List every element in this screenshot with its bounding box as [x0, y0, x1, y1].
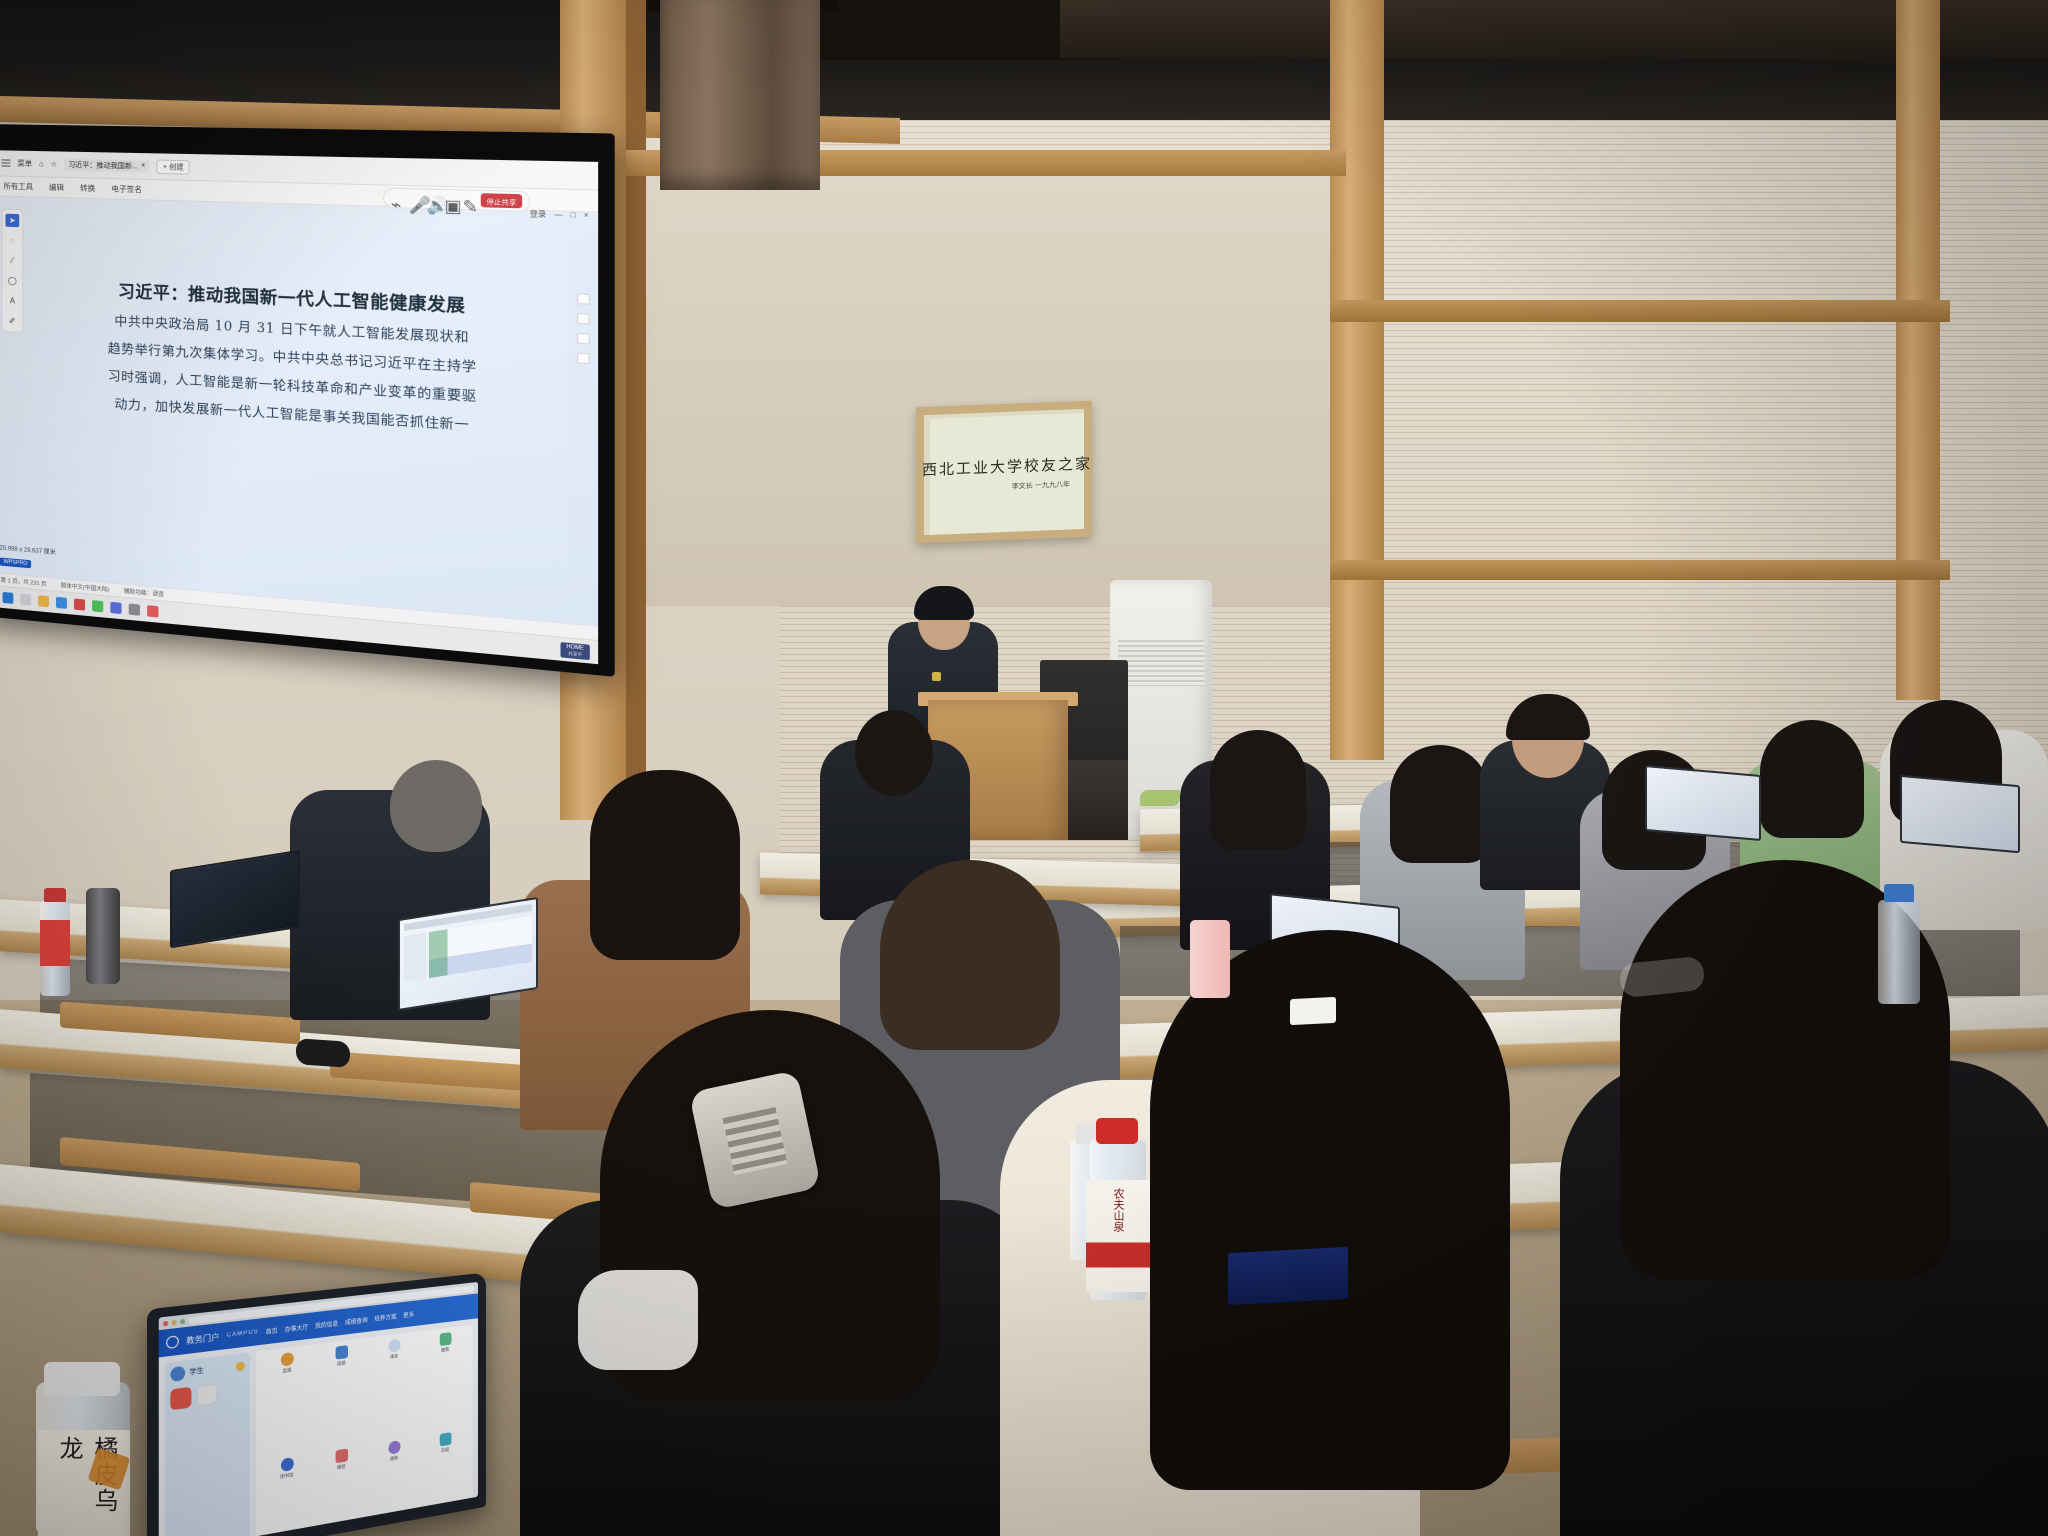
- document-page: 习近平：推动我国新一代人工智能健康发展 中共中央政治局 10 月 31 日下午就…: [29, 203, 567, 617]
- comment-icon[interactable]: ◌: [5, 234, 19, 248]
- face-mask: [578, 1270, 698, 1370]
- portal-tile[interactable]: 报修: [316, 1446, 366, 1536]
- panel-icon[interactable]: [577, 353, 590, 365]
- laptop[interactable]: [1645, 765, 1761, 841]
- portal-tile[interactable]: 课表: [370, 1336, 418, 1440]
- search-icon[interactable]: [20, 594, 31, 606]
- portal-nav-item[interactable]: 更多: [403, 1309, 414, 1319]
- bottle-cap: [44, 1362, 120, 1396]
- attendee-hair: [590, 770, 740, 960]
- portal-tile[interactable]: 图书馆: [261, 1454, 312, 1536]
- laptop-screen: [1645, 765, 1761, 841]
- new-document-button[interactable]: + 创建: [157, 159, 190, 174]
- close-window-icon[interactable]: ×: [584, 212, 589, 220]
- bottle-label: [40, 920, 70, 966]
- bottle-label: 农夫山泉: [1086, 1180, 1150, 1292]
- attendee-hair: [1210, 730, 1306, 850]
- start-icon[interactable]: [3, 592, 14, 604]
- highlighter-icon[interactable]: ⁄: [5, 254, 19, 268]
- portal-user-role: 学生: [189, 1365, 204, 1377]
- attendee-hair: [880, 860, 1060, 1050]
- portal-body: 学生 选课 成绩: [159, 1318, 478, 1536]
- notification-icon[interactable]: [236, 1361, 245, 1371]
- close-icon[interactable]: ×: [141, 162, 145, 169]
- mail-icon[interactable]: [110, 602, 121, 614]
- camera-off-icon[interactable]: ▣: [444, 195, 453, 204]
- attendee-head: [390, 760, 482, 852]
- presenter-badge: [932, 672, 941, 681]
- panel-icon[interactable]: [577, 313, 590, 325]
- wall-plaque: 西北工业大学校友之家 李文长 一九九八年: [916, 401, 1092, 544]
- projection-screen: 菜单 ⌂ ☆ 习近平：推动我国新... × + 创建 所有工具 编辑 转换 电子…: [0, 124, 615, 677]
- avatar: [170, 1366, 185, 1383]
- browser-icon[interactable]: [56, 597, 67, 609]
- portal-tile-grid: 选课 成绩 课表 缴费: [256, 1325, 473, 1536]
- ac-grill: [1118, 640, 1204, 686]
- laptop-screen: [1900, 775, 2020, 853]
- document-title: 习近平：推动我国新一代人工智能健康发展: [118, 277, 465, 317]
- text-box-icon[interactable]: A: [5, 294, 19, 308]
- portal-quick-tile[interactable]: [197, 1383, 218, 1407]
- attendee-head: [855, 710, 933, 796]
- portal-tile[interactable]: 选课: [261, 1350, 312, 1457]
- maximize-icon[interactable]: □: [571, 211, 576, 219]
- plaque-text: 西北工业大学校友之家: [922, 453, 1092, 481]
- wood-post: [1330, 0, 1384, 760]
- laptop-portal-screen: 教务门户 CAMPUS 首页 办事大厅 我的信息 成绩查询 培养方案 更多 学生: [159, 1282, 478, 1536]
- plaque-inner: 西北工业大学校友之家 李文长 一九九八年: [930, 413, 1084, 535]
- pdf-icon[interactable]: [74, 598, 85, 610]
- wood-post: [626, 0, 646, 820]
- portal-tile[interactable]: 缴费: [422, 1330, 469, 1432]
- cursor-select-icon[interactable]: ➤: [5, 214, 19, 227]
- menu-hamburger-icon[interactable]: [2, 159, 11, 166]
- panel-icon[interactable]: [577, 333, 590, 345]
- menu-item-convert[interactable]: 转换: [80, 182, 95, 194]
- time-icon[interactable]: [147, 605, 158, 617]
- portal-nav-item[interactable]: 我的信息: [315, 1318, 338, 1330]
- wifi-icon[interactable]: ⌁: [391, 194, 400, 203]
- portal-quick-tile[interactable]: [170, 1387, 191, 1411]
- settings-icon[interactable]: [129, 603, 140, 615]
- star-icon[interactable]: ☆: [51, 159, 58, 168]
- portal-user-card: 学生: [165, 1352, 250, 1536]
- pen-icon[interactable]: ✎: [463, 195, 472, 204]
- attendee-hair: [1390, 745, 1490, 863]
- speaker-icon[interactable]: 🔊: [426, 195, 435, 204]
- wood-beam: [1330, 300, 1950, 322]
- pink-bottle: [1190, 920, 1230, 998]
- menu-item-edit[interactable]: 编辑: [49, 182, 64, 194]
- portal-nav-item[interactable]: 成绩查询: [345, 1314, 368, 1326]
- stop-share-button[interactable]: 停止共享: [481, 193, 522, 208]
- hair-clip-detail: [723, 1107, 788, 1175]
- portal-tile[interactable]: 成绩: [316, 1343, 366, 1449]
- menu-label[interactable]: 菜单: [17, 158, 32, 169]
- water-bottle: [1878, 900, 1920, 1004]
- foreground-laptop[interactable]: 教务门户 CAMPUS 首页 办事大厅 我的信息 成绩查询 培养方案 更多 学生: [147, 1272, 486, 1536]
- portal-brand: 教务门户: [186, 1331, 219, 1346]
- panel-icon[interactable]: [577, 293, 590, 305]
- ac-logo: [1140, 790, 1180, 806]
- laptop[interactable]: [1900, 775, 2020, 853]
- chat-icon[interactable]: [92, 600, 103, 612]
- portal-logo-icon: [166, 1335, 179, 1349]
- menu-item-all-tools[interactable]: 所有工具: [4, 181, 34, 193]
- portal-nav-item[interactable]: 首页: [266, 1325, 278, 1336]
- wps-brand-chip: WPSPRO: [0, 558, 32, 569]
- portal-brand-en: CAMPUS: [227, 1329, 259, 1339]
- folder-icon[interactable]: [38, 595, 49, 607]
- wood-beam: [1330, 560, 1950, 580]
- plaque-signature: 李文长 一九九八年: [1012, 479, 1070, 491]
- portal-nav-item[interactable]: 办事大厅: [285, 1321, 309, 1333]
- share-badge-sub: 共享中: [568, 650, 582, 658]
- share-status-badge[interactable]: HOME 共享中: [560, 641, 589, 659]
- attendee-hair: [1760, 720, 1864, 838]
- annotation-tool-rail: ➤ ◌ ⁄ ◯ A ✐: [2, 209, 24, 333]
- bottle-cap: [44, 888, 66, 902]
- stamp-icon[interactable]: ✐: [5, 314, 19, 328]
- bottle-cap: [1884, 884, 1914, 902]
- screen-display: 菜单 ⌂ ☆ 习近平：推动我国新... × + 创建 所有工具 编辑 转换 电子…: [0, 150, 598, 664]
- lecture-room-photo: 西北工业大学校友之家 李文长 一九九八年 菜单 ⌂ ☆ 习近平：推动我国新...…: [0, 0, 2048, 1536]
- wall-panel: [646, 176, 1336, 606]
- glasses-case: [296, 1038, 350, 1068]
- portal-nav-item[interactable]: 培养方案: [374, 1311, 396, 1323]
- bottle-brand-text: 农夫山泉: [1110, 1188, 1126, 1232]
- thermos: [86, 888, 120, 984]
- document-tab-label: 习近平：推动我国新...: [68, 159, 138, 171]
- wood-post: [1896, 0, 1940, 700]
- right-tool-rail: [575, 293, 593, 364]
- paper-cup: [1290, 997, 1336, 1025]
- screen-share-toolbar: ⌁ 🎤 🔊 ▣ ✎ 停止共享: [383, 188, 530, 212]
- home-icon[interactable]: ⌂: [39, 159, 44, 168]
- microphone-icon[interactable]: 🎤: [409, 194, 418, 203]
- bottle-cap: [1096, 1118, 1138, 1144]
- menu-item-esign[interactable]: 电子签名: [111, 183, 142, 195]
- notebook: [1228, 1247, 1348, 1305]
- document-tab[interactable]: 习近平：推动我国新... ×: [64, 158, 149, 172]
- window-curtain: [660, 0, 820, 190]
- lasso-icon[interactable]: ◯: [5, 274, 19, 288]
